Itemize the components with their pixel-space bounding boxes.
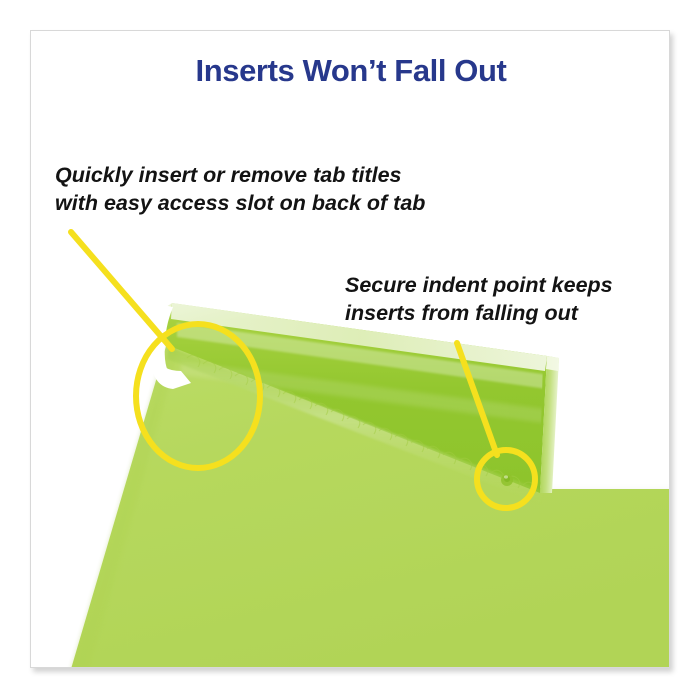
- caption-access-slot: Quickly insert or remove tab titles with…: [55, 161, 425, 217]
- caption-indent-point-line1: Secure indent point keeps: [345, 271, 613, 299]
- divider-illustration: [31, 31, 670, 668]
- caption-indent-point-line2: inserts from falling out: [345, 299, 613, 327]
- photo-frame: Inserts Won’t Fall Out Quickly insert or…: [30, 30, 670, 668]
- caption-access-slot-line1: Quickly insert or remove tab titles: [55, 161, 425, 189]
- product-photo: [31, 31, 670, 668]
- caption-indent-point: Secure indent point keeps inserts from f…: [345, 271, 613, 327]
- caption-access-slot-line2: with easy access slot on back of tab: [55, 189, 425, 217]
- page-title: Inserts Won’t Fall Out: [31, 53, 670, 89]
- secure-indent-point: [501, 474, 513, 486]
- screenshot-root: Inserts Won’t Fall Out Quickly insert or…: [0, 0, 700, 700]
